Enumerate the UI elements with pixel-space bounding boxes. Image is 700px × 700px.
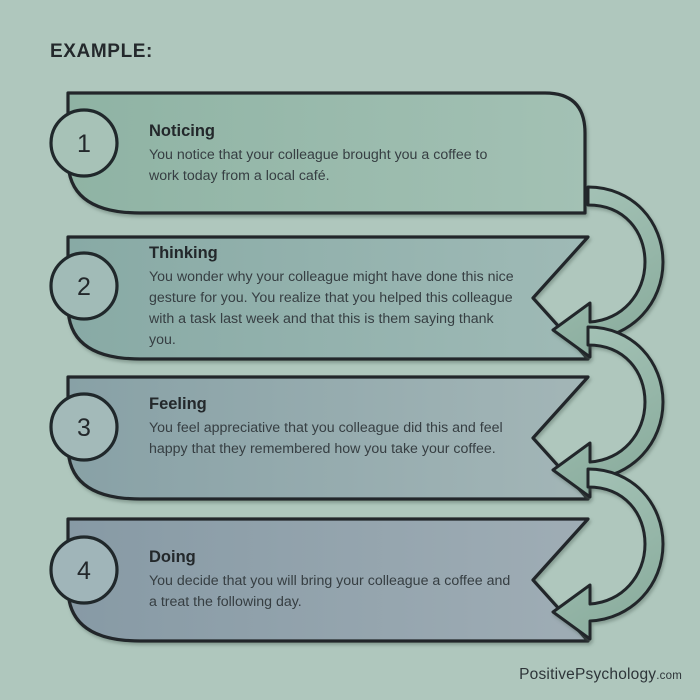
watermark-brand: PositivePsychology [519,666,656,683]
step-number-badge-1: 1 [51,110,117,176]
step-number-3: 3 [77,414,91,442]
banner-step-1[interactable] [68,93,585,213]
banner-step-2[interactable] [68,237,588,359]
infographic-canvas: EXAMPLE: [0,0,700,700]
step-number-4: 4 [77,557,91,585]
step-number-badge-4: 4 [51,537,117,603]
step-number-badge-2: 2 [51,253,117,319]
banner-step-4[interactable] [68,519,588,641]
banner-step-3[interactable] [68,377,588,499]
step-number-1: 1 [77,130,91,158]
watermark-tld: .com [656,670,682,682]
step-number-2: 2 [77,273,91,301]
diagram-shapes: 1 2 3 4 [0,0,700,700]
step-number-badge-3: 3 [51,394,117,460]
diagram-stage: 1 2 3 4 Noticing You notice that your co… [0,0,700,700]
watermark: PositivePsychology.com [519,667,682,683]
